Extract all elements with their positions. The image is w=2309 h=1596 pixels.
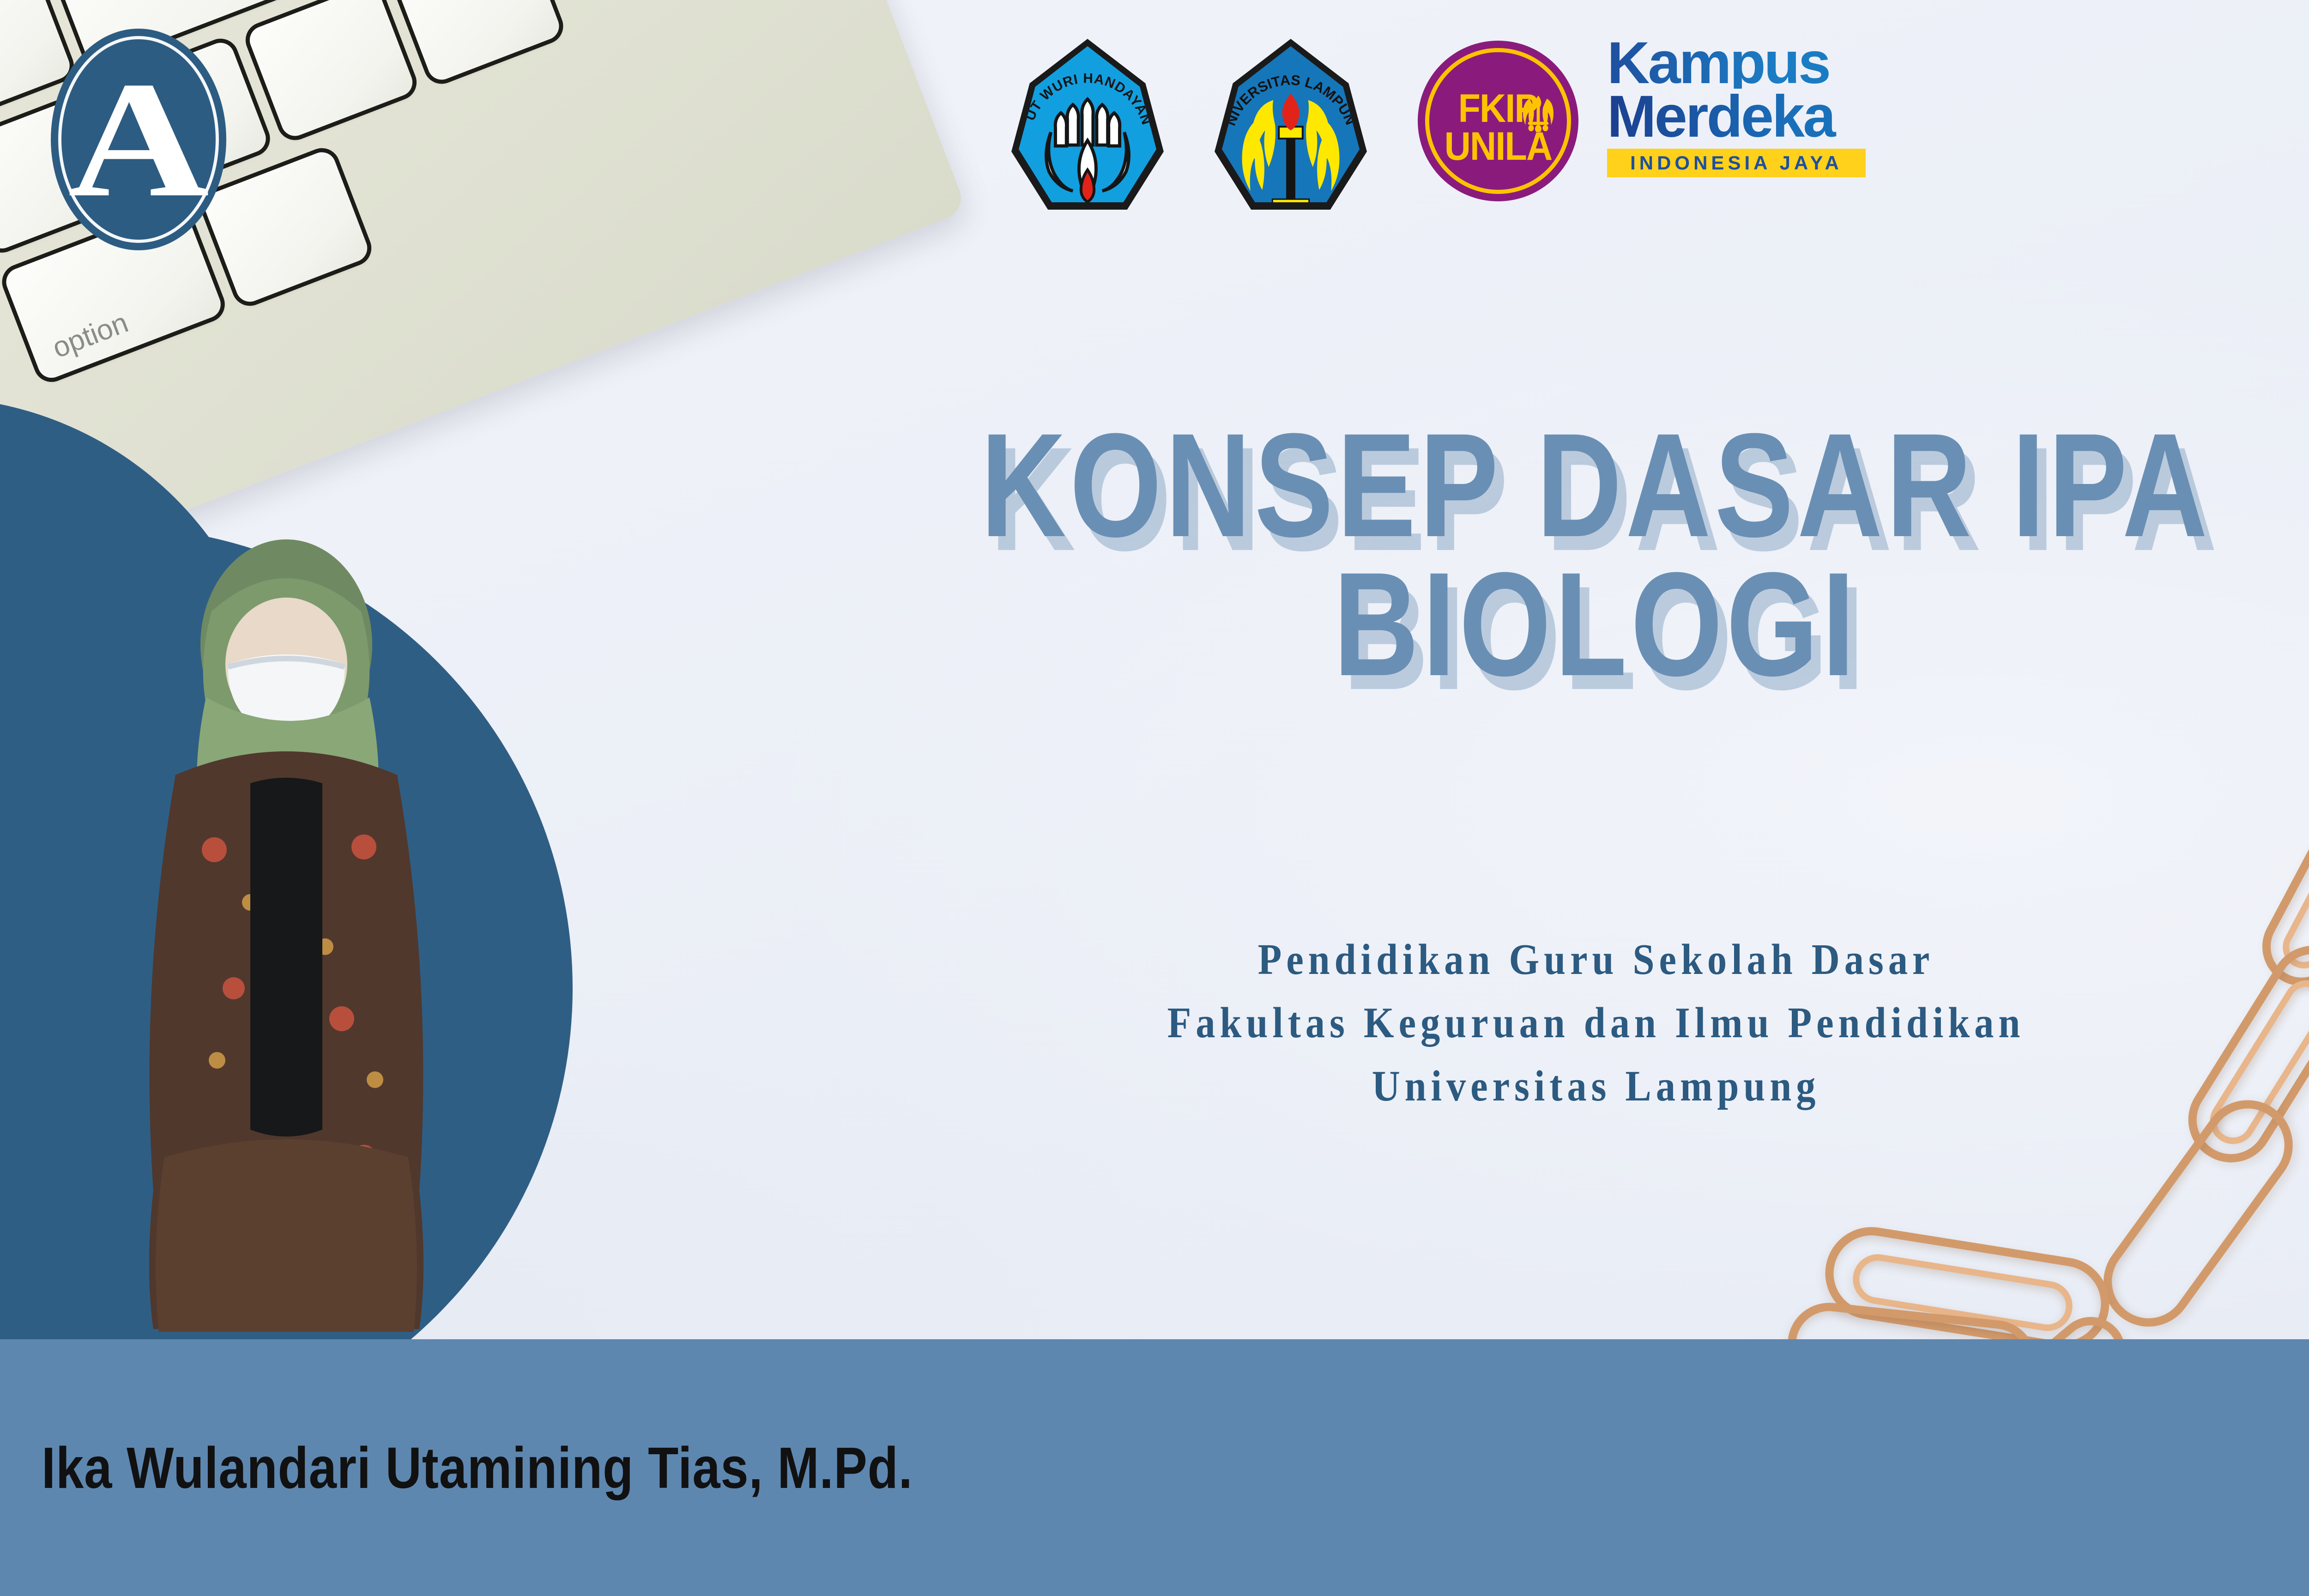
kampus-merdeka-ribbon: INDONESIA JAYA	[1607, 149, 1866, 177]
subtitle-line-2: Fakultas Keguruan dan Ilmu Pendidikan	[160, 991, 2309, 1055]
subtitle-line-3: Universitas Lampung	[160, 1055, 2309, 1118]
logo-row: TUT WURI HANDAYANI	[1011, 28, 2235, 212]
ribbon-label: INDONESIA JAYA	[1630, 152, 1843, 174]
slide-title: KONSEP DASAR IPA BIOLOGI	[0, 416, 2309, 694]
presenter-name-left: Ika Wulandari Utamining Tias, M.Pd.	[42, 1434, 913, 1501]
slide-subtitle: Pendidikan Guru Sekolah Dasar Fakultas K…	[0, 928, 2309, 1118]
kampus-merdeka-logo: Kampus Merdeka INDONESIA JAYA	[1607, 38, 1963, 204]
fkip-unila-logo: FKIP UNILA	[1418, 41, 1578, 201]
kampus-merdeka-word2: Merdeka	[1607, 91, 1963, 142]
universitas-lampung-logo: UNIVERSITAS LAMPUNG	[1215, 39, 1367, 210]
title-line-2: BIOLOGI	[319, 555, 2309, 694]
subtitle-line-1: Pendidikan Guru Sekolah Dasar	[160, 928, 2309, 991]
badge-letter: A	[68, 75, 210, 205]
shield-face: UNIVERSITAS LAMPUNG	[1222, 46, 1360, 202]
title-line-1: KONSEP DASAR IPA	[319, 416, 2309, 555]
kampus-merdeka-word1: Kampus	[1607, 38, 1963, 89]
fkip-torch-icon	[1518, 92, 1558, 132]
tut-wuri-handayani-logo: TUT WURI HANDAYANI	[1011, 39, 1164, 210]
institution-badge: A	[51, 29, 226, 250]
fkip-line2: UNILA	[1424, 128, 1572, 165]
shield-face: TUT WURI HANDAYANI	[1019, 46, 1156, 202]
presenter-bar: Ika Wulandari Utamining Tias, M.Pd. Drs.…	[0, 1339, 2309, 1596]
